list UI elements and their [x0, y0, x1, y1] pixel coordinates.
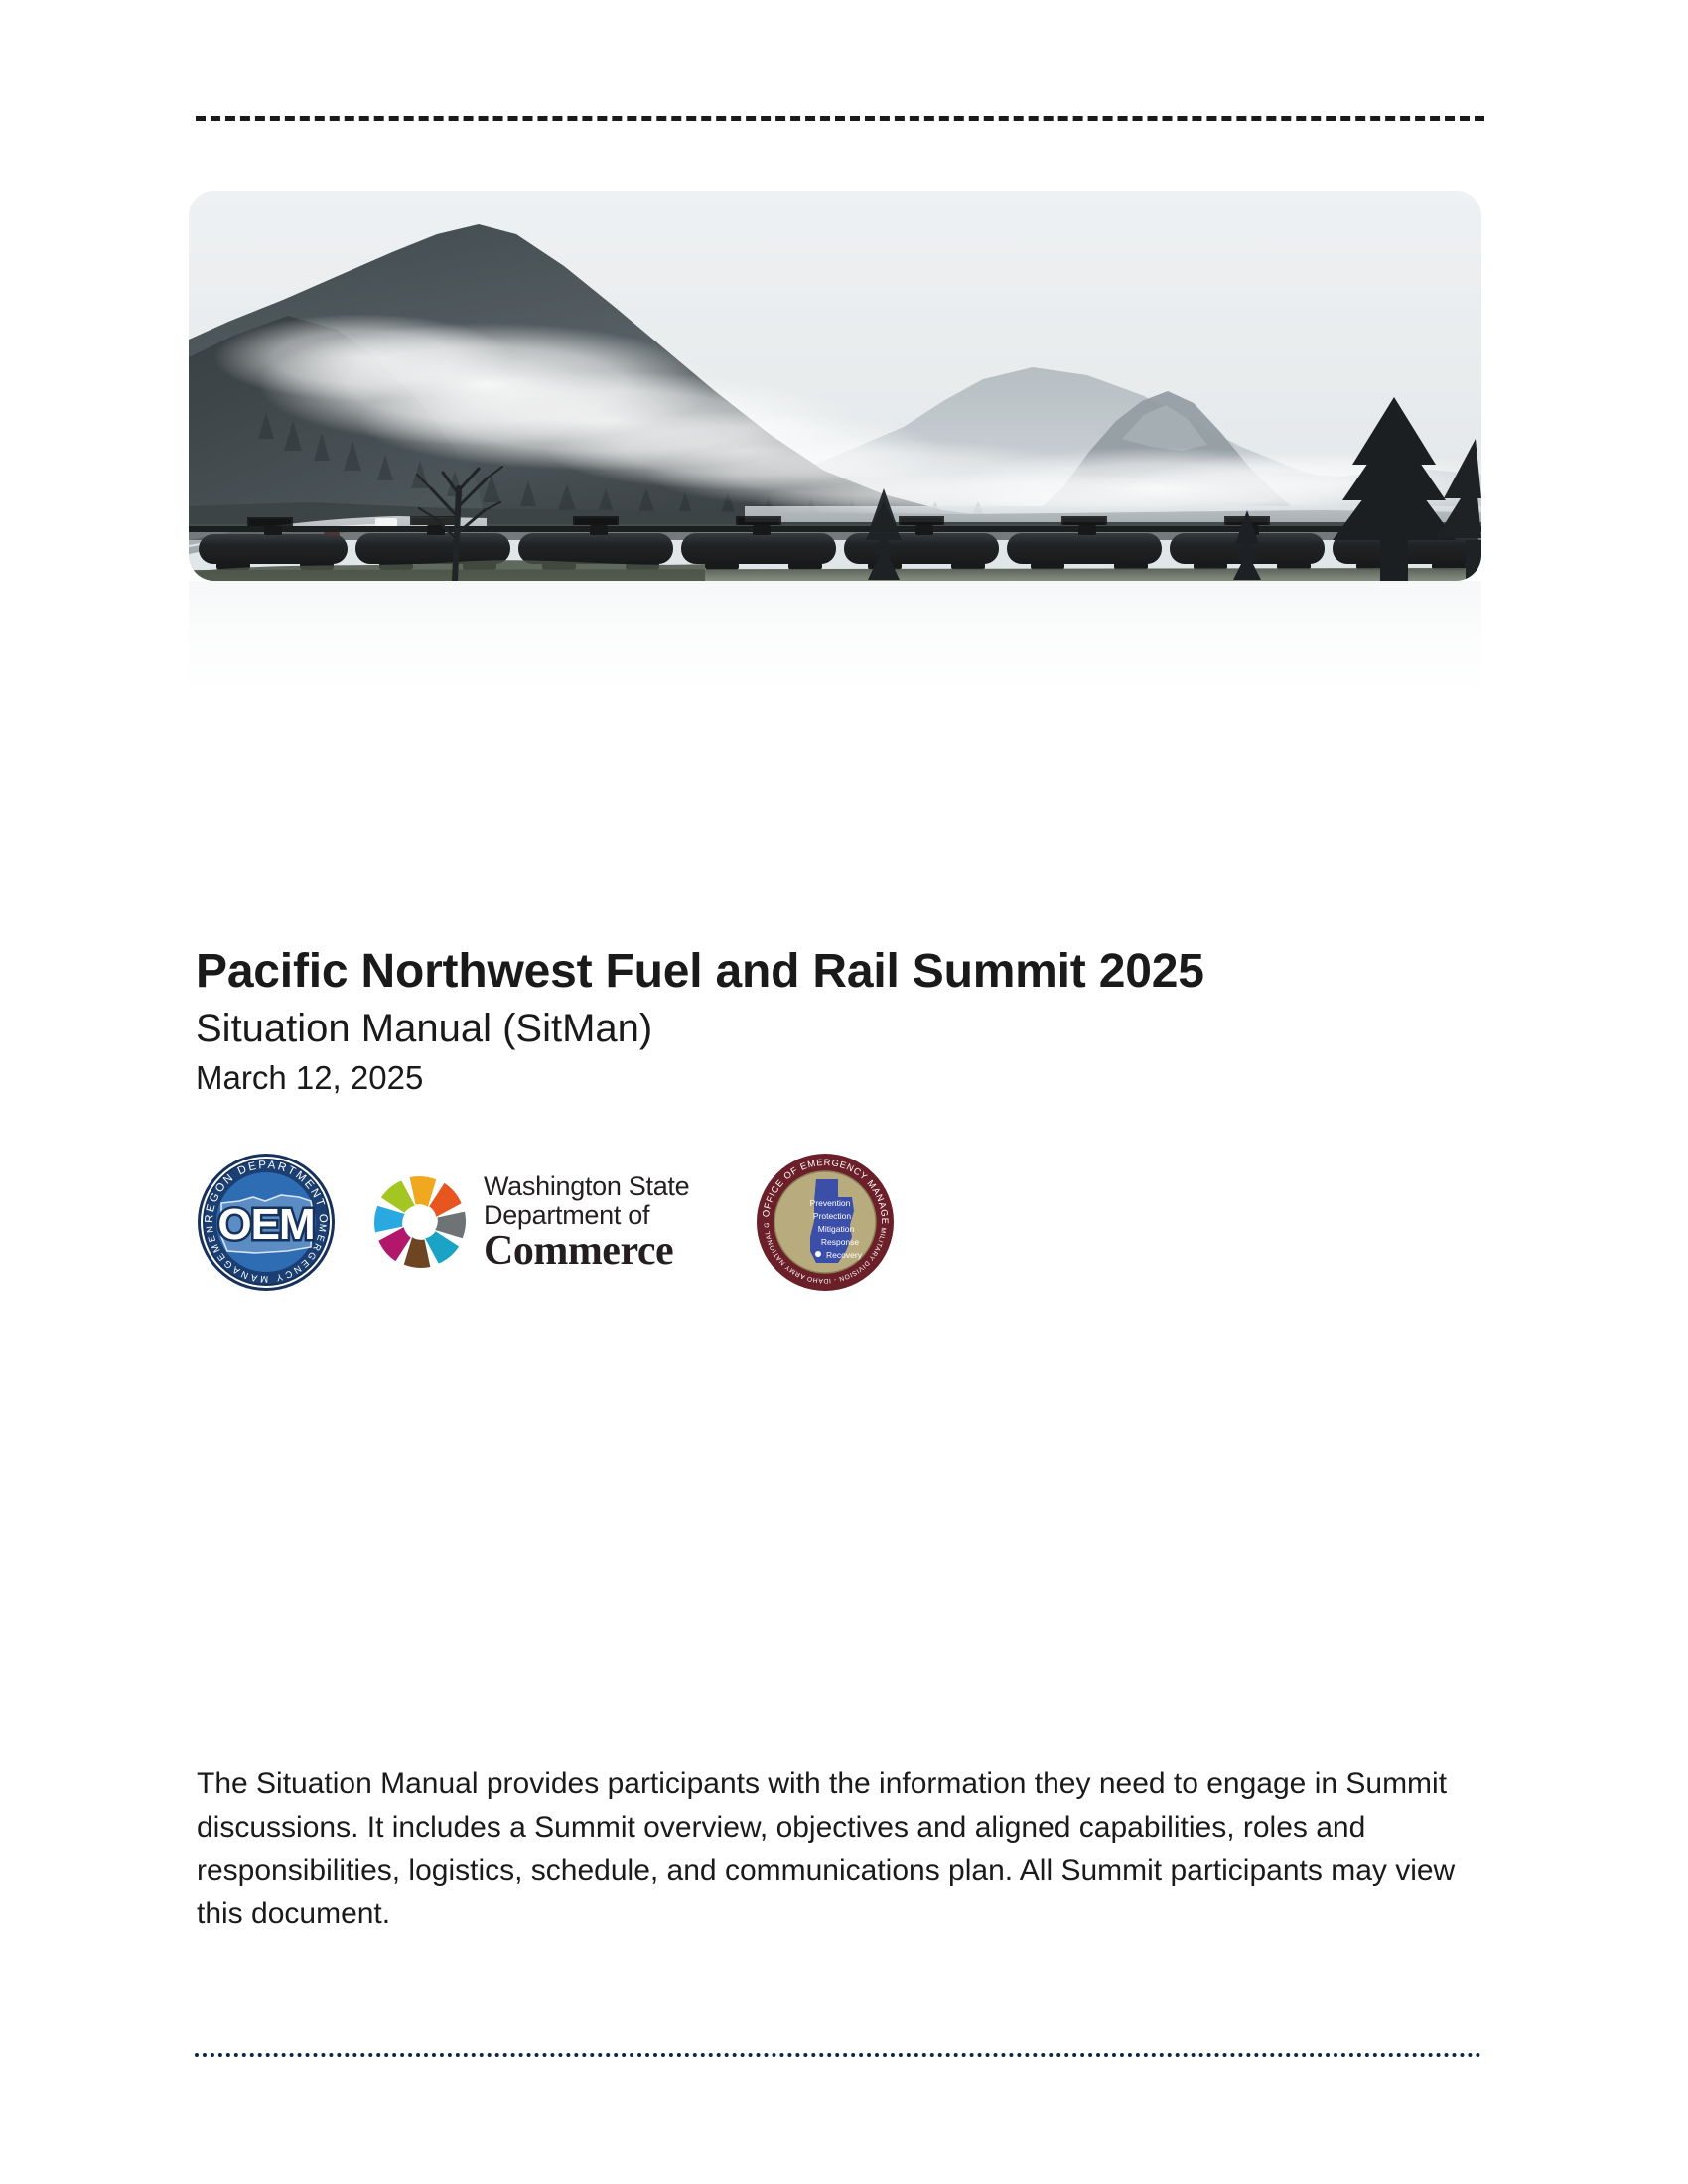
idaho-word-protection: Protection [813, 1211, 852, 1221]
page-title: Pacific Northwest Fuel and Rail Summit 2… [196, 945, 1457, 999]
commerce-line-2: Department of [484, 1202, 689, 1229]
title-block: Pacific Northwest Fuel and Rail Summit 2… [196, 945, 1457, 1097]
idaho-word-mitigation: Mitigation [818, 1224, 855, 1234]
wa-commerce-logo: Washington State Department of Commerce [368, 1170, 689, 1274]
oregon-oem-seal-icon: OREGON DEPARTMENT OF EMERGENCY MANAGEMEN… [196, 1152, 337, 1293]
header-dashed-rule [196, 116, 1484, 121]
page-subtitle: Situation Manual (SitMan) [196, 1005, 1457, 1052]
cover-image-reflection [189, 581, 1481, 717]
cover-image-reflection-illustration [189, 581, 1481, 717]
commerce-pinwheel-icon [368, 1170, 472, 1274]
idaho-word-response: Response [821, 1237, 860, 1247]
idaho-oem-logo: Prevention Protection Mitigation Respons… [755, 1152, 896, 1293]
idaho-oem-seal-icon: Prevention Protection Mitigation Respons… [755, 1152, 896, 1293]
svg-text:OEM: OEM [217, 1200, 314, 1249]
abstract-paragraph: The Situation Manual provides participan… [197, 1762, 1460, 1936]
cover-image-block [189, 191, 1481, 717]
cover-image [189, 191, 1481, 581]
page-date: March 12, 2025 [196, 1058, 1457, 1098]
cover-image-illustration [189, 191, 1481, 581]
footer-dashed-rule [195, 2053, 1481, 2057]
document-page: Pacific Northwest Fuel and Rail Summit 2… [0, 0, 1688, 2184]
idaho-word-recovery: Recovery [826, 1250, 863, 1260]
oregon-oem-logo: OREGON DEPARTMENT OF EMERGENCY MANAGEMEN… [196, 1152, 337, 1293]
commerce-line-1: Washington State [484, 1173, 689, 1200]
commerce-line-3: Commerce [484, 1230, 689, 1272]
idaho-word-prevention: Prevention [810, 1198, 851, 1208]
agency-logo-strip: OREGON DEPARTMENT OF EMERGENCY MANAGEMEN… [196, 1150, 896, 1295]
